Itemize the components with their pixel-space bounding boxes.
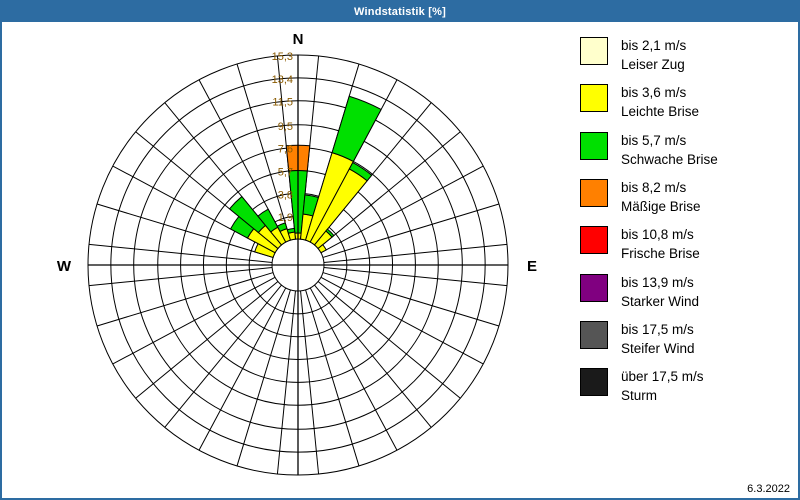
legend-name: Steifer Wind xyxy=(621,339,695,358)
grid-spoke xyxy=(323,204,499,257)
wind-statistics-window: Windstatistik [%] 1,93,85,77,69,511,513,… xyxy=(0,0,800,500)
legend-speed: bis 3,6 m/s xyxy=(621,83,699,102)
legend-name: Schwache Brise xyxy=(621,150,718,169)
legend-swatch xyxy=(580,179,608,207)
radial-tick-label: 3,8 xyxy=(278,189,293,201)
legend-name: Leichte Brise xyxy=(621,102,699,121)
radial-tick-label: 7,6 xyxy=(278,144,293,156)
legend-item: bis 2,1 m/sLeiser Zug xyxy=(580,36,795,74)
legend-speed: bis 5,7 m/s xyxy=(621,131,718,150)
compass-labels: N S W E xyxy=(57,31,537,480)
legend-swatch xyxy=(580,84,608,112)
legend-item: über 17,5 m/sSturm xyxy=(580,367,795,405)
legend-item: bis 8,2 m/sMäßige Brise xyxy=(580,178,795,216)
grid-spoke xyxy=(306,290,359,466)
legend-speed: bis 8,2 m/s xyxy=(621,178,701,197)
polar-axes xyxy=(88,55,508,475)
legend-speed: bis 17,5 m/s xyxy=(621,320,695,339)
radial-tick-label: 5,7 xyxy=(278,166,293,178)
grid-spoke xyxy=(323,273,499,326)
legend-swatch xyxy=(580,274,608,302)
legend-label: bis 17,5 m/sSteifer Wind xyxy=(621,320,695,358)
wind-rose-petal xyxy=(287,228,294,233)
legend-swatch xyxy=(580,132,608,160)
legend: bis 2,1 m/sLeiser Zugbis 3,6 m/sLeichte … xyxy=(580,36,795,415)
date-stamp: 6.3.2022 xyxy=(747,483,790,495)
legend-item: bis 17,5 m/sSteifer Wind xyxy=(580,320,795,358)
legend-label: bis 10,8 m/sFrische Brise xyxy=(621,225,700,263)
legend-name: Sturm xyxy=(621,386,704,405)
legend-item: bis 5,7 m/sSchwache Brise xyxy=(580,131,795,169)
legend-label: bis 2,1 m/sLeiser Zug xyxy=(621,36,686,74)
radial-tick-labels: 1,93,85,77,69,511,513,415,3 xyxy=(272,51,293,224)
grid-spoke xyxy=(97,273,273,326)
radial-tick-label: 15,3 xyxy=(272,51,293,63)
legend-item: bis 13,9 m/sStarker Wind xyxy=(580,273,795,311)
legend-name: Starker Wind xyxy=(621,292,699,311)
compass-label-west: W xyxy=(57,258,72,275)
legend-label: über 17,5 m/sSturm xyxy=(621,367,704,405)
legend-label: bis 8,2 m/sMäßige Brise xyxy=(621,178,701,216)
legend-item: bis 3,6 m/sLeichte Brise xyxy=(580,83,795,121)
grid-spoke xyxy=(237,290,290,466)
radial-tick-label: 1,9 xyxy=(278,212,293,224)
legend-speed: bis 13,9 m/s xyxy=(621,273,699,292)
legend-label: bis 13,9 m/sStarker Wind xyxy=(621,273,699,311)
window-titlebar: Windstatistik [%] xyxy=(2,2,798,22)
legend-name: Mäßige Brise xyxy=(621,197,701,216)
window-title: Windstatistik [%] xyxy=(354,6,446,18)
radial-tick-label: 13,4 xyxy=(272,74,293,86)
legend-name: Leiser Zug xyxy=(621,55,686,74)
legend-label: bis 3,6 m/sLeichte Brise xyxy=(621,83,699,121)
radial-tick-label: 11,5 xyxy=(272,97,293,109)
legend-swatch xyxy=(580,37,608,65)
legend-speed: bis 2,1 m/s xyxy=(621,36,686,55)
legend-label: bis 5,7 m/sSchwache Brise xyxy=(621,131,718,169)
wind-rose-chart: 1,93,85,77,69,511,513,415,3 N S W E xyxy=(2,22,568,480)
compass-label-east: E xyxy=(527,258,537,275)
legend-swatch xyxy=(580,226,608,254)
radial-tick-label: 9,5 xyxy=(278,121,293,133)
legend-speed: über 17,5 m/s xyxy=(621,367,704,386)
compass-label-north: N xyxy=(293,31,304,48)
window-content: 1,93,85,77,69,511,513,415,3 N S W E bis … xyxy=(2,22,798,498)
legend-swatch xyxy=(580,321,608,349)
legend-speed: bis 10,8 m/s xyxy=(621,225,700,244)
legend-name: Frische Brise xyxy=(621,244,700,263)
legend-item: bis 10,8 m/sFrische Brise xyxy=(580,225,795,263)
legend-swatch xyxy=(580,368,608,396)
